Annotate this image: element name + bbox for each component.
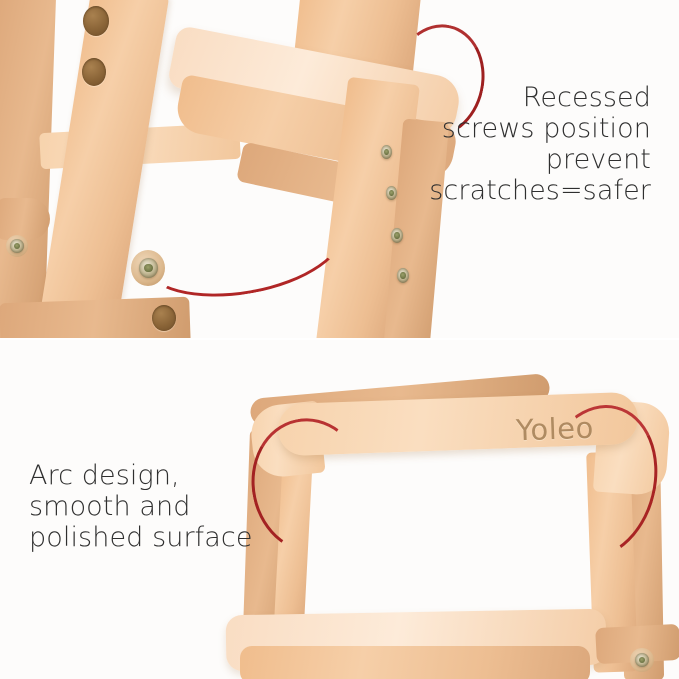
- adjustment-hole: [82, 58, 106, 86]
- brand-logo-engraving: Yoleo: [515, 411, 594, 448]
- product-feature-image: Yoleo Recessed screws position prevent s…: [0, 0, 679, 679]
- chair-seat-bottom-front: [240, 646, 590, 679]
- recessed-screw: [139, 258, 158, 278]
- recessed-screw: [391, 228, 403, 243]
- recessed-screw: [397, 268, 409, 283]
- adjustment-hole: [152, 305, 176, 331]
- adjustment-hole: [83, 6, 109, 36]
- caption-arc-design: Arc design, smooth and polished surface: [29, 460, 349, 553]
- recessed-screw: [10, 239, 24, 253]
- chair-side-knob: [0, 198, 50, 240]
- recessed-screw: [635, 653, 649, 667]
- caption-recessed-screws: Recessed screws position prevent scratch…: [311, 82, 651, 206]
